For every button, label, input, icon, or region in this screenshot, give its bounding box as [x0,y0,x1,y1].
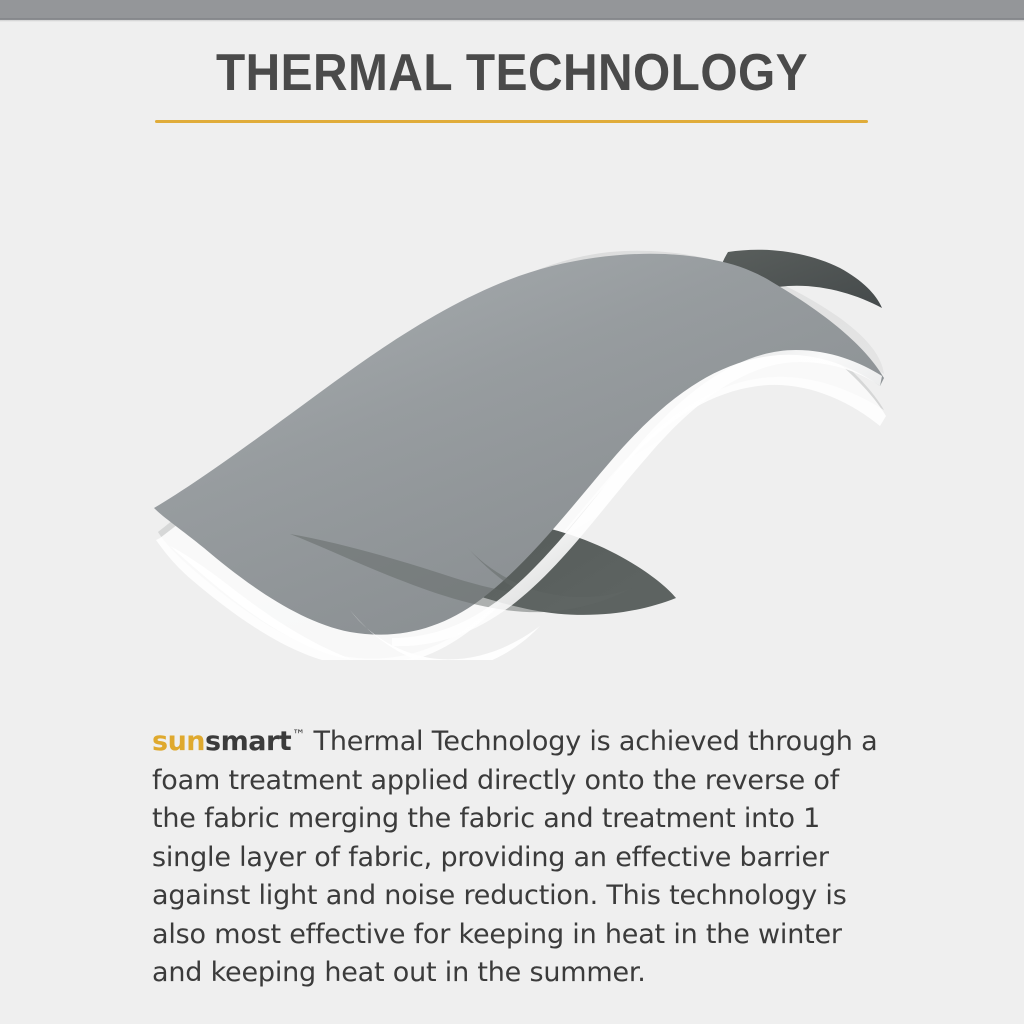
description-text: Thermal Technology is achieved through a… [152,726,877,988]
brand-sun-text: sun [152,726,205,757]
top-edge-band [0,0,1024,20]
product-feature-panel: THERMAL TECHNOLOGY [0,0,1024,1024]
brand-smart-text: smart [205,726,291,757]
fabric-illustration [140,190,900,660]
top-edge-band-shadow [0,18,1024,22]
description-paragraph: sunsmart™ Thermal Technology is achieved… [152,717,882,993]
header: THERMAL TECHNOLOGY [0,44,1024,102]
sunsmart-brand-lockup: sunsmart™ [152,726,305,757]
page-title: THERMAL TECHNOLOGY [41,44,983,102]
title-underline-rule [155,120,868,123]
trademark-icon: ™ [292,728,305,743]
